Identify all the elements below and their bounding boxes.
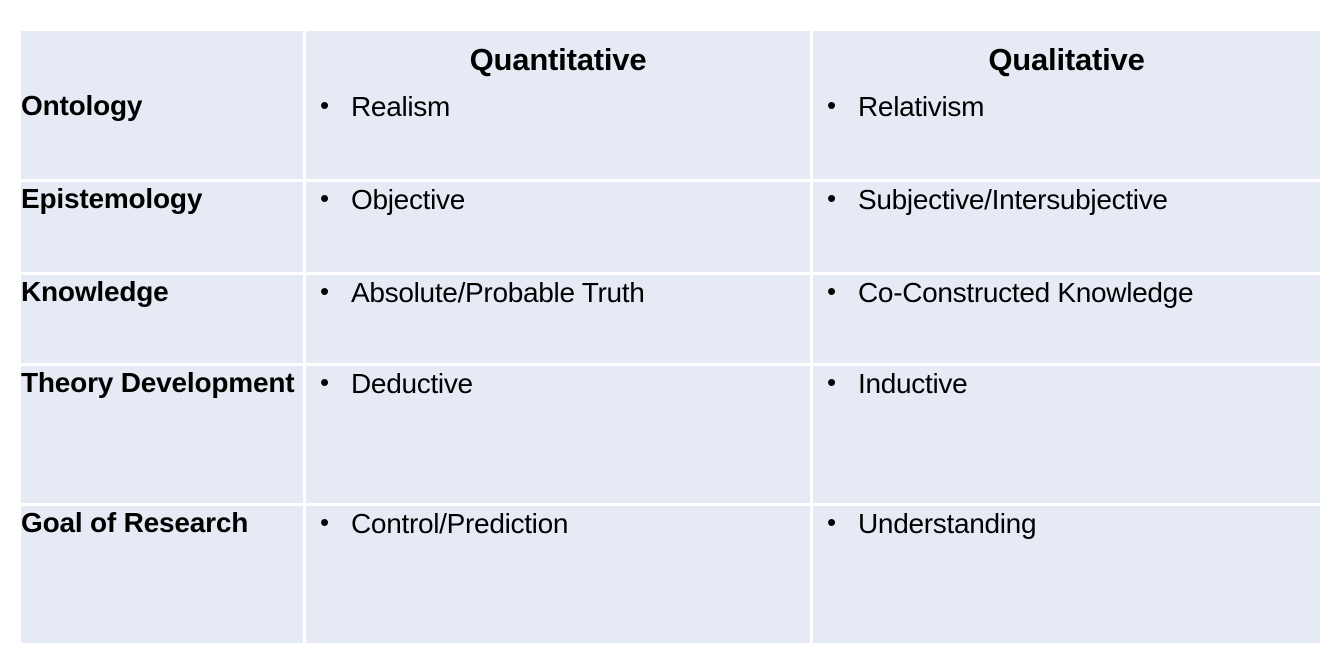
list-item-label: Relativism [858,89,1320,125]
row-label-epistemology: Epistemology [21,182,303,216]
list-item-label: Control/Prediction [351,506,810,542]
row-label-cell-theory-development: Theory Development [21,366,306,506]
bullet-icon: • [813,275,858,308]
list-item: • Deductive [306,366,810,402]
list-item-label: Understanding [858,506,1320,542]
table-body: Ontology • Realism • Relativism Epistemo… [21,89,1320,643]
table-row: Ontology • Realism • Relativism [21,89,1320,182]
list-item-label: Objective [351,182,810,218]
list-item: • Absolute/Probable Truth [306,275,810,311]
cell-epistemology-qualitative: • Subjective/Intersubjective [813,182,1320,275]
cell-theory-development-qualitative: • Inductive [813,366,1320,506]
row-label-knowledge: Knowledge [21,275,303,309]
row-label-theory-development: Theory Development [21,366,303,400]
cell-knowledge-quantitative: • Absolute/Probable Truth [306,275,813,366]
list-item: • Objective [306,182,810,218]
header-cell-qualitative: Qualitative [813,31,1320,89]
list-item-label: Subjective/Intersubjective [858,182,1320,218]
bullet-icon: • [813,182,858,215]
list-item: • Subjective/Intersubjective [813,182,1320,218]
list-item: • Understanding [813,506,1320,542]
list-item-label: Inductive [858,366,1320,402]
table-row: Goal of Research • Control/Prediction • … [21,506,1320,643]
cell-knowledge-qualitative: • Co-Constructed Knowledge [813,275,1320,366]
table-row: Knowledge • Absolute/Probable Truth • Co… [21,275,1320,366]
table-row: Theory Development • Deductive • Inducti… [21,366,1320,506]
row-label-cell-knowledge: Knowledge [21,275,306,366]
list-item-label: Absolute/Probable Truth [351,275,810,311]
bullet-icon: • [306,366,351,399]
list-item: • Realism [306,89,810,125]
bullet-icon: • [306,506,351,539]
list-item-label: Realism [351,89,810,125]
cell-ontology-quantitative: • Realism [306,89,813,182]
bullet-icon: • [306,89,351,122]
header-cell-quantitative: Quantitative [306,31,813,89]
table-header: Quantitative Qualitative [21,31,1320,89]
cell-ontology-qualitative: • Relativism [813,89,1320,182]
column-header-qualitative-label: Qualitative [813,31,1320,89]
bullet-icon: • [306,275,351,308]
list-item-label: Deductive [351,366,810,402]
quantitative-qualitative-comparison-table: Quantitative Qualitative Ontology • Real… [21,31,1320,643]
list-item-label: Co-Constructed Knowledge [858,275,1320,311]
table-row: Epistemology • Objective • Subjective/In… [21,182,1320,275]
cell-theory-development-quantitative: • Deductive [306,366,813,506]
row-label-cell-ontology: Ontology [21,89,306,182]
bullet-icon: • [813,506,858,539]
list-item: • Relativism [813,89,1320,125]
bullet-icon: • [813,89,858,122]
bullet-icon: • [306,182,351,215]
table-header-row: Quantitative Qualitative [21,31,1320,89]
cell-epistemology-quantitative: • Objective [306,182,813,275]
list-item: • Control/Prediction [306,506,810,542]
cell-goal-of-research-quantitative: • Control/Prediction [306,506,813,643]
cell-goal-of-research-qualitative: • Understanding [813,506,1320,643]
bullet-icon: • [813,366,858,399]
list-item: • Inductive [813,366,1320,402]
row-label-cell-epistemology: Epistemology [21,182,306,275]
list-item: • Co-Constructed Knowledge [813,275,1320,311]
header-cell-corner-blank [21,31,306,89]
row-label-goal-of-research: Goal of Research [21,506,303,540]
row-label-cell-goal-of-research: Goal of Research [21,506,306,643]
row-label-ontology: Ontology [21,89,303,123]
column-header-quantitative-label: Quantitative [306,31,810,89]
